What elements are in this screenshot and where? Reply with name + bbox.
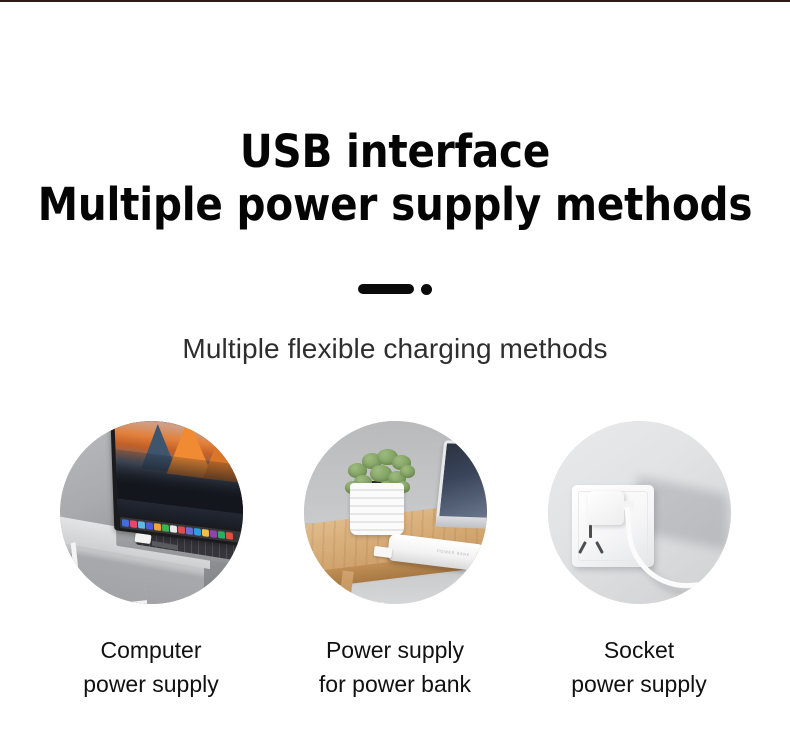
laptop-usb-charging-photo <box>60 421 243 604</box>
feature-caption-socket: Socket power supply <box>548 633 731 701</box>
promo-page: USB interface Multiple power supply meth… <box>0 0 790 753</box>
tablet-device <box>435 440 486 524</box>
feature-card-row: Computer power supply POWER BANK <box>0 421 790 701</box>
caption-line-1: Power supply <box>304 633 487 667</box>
dock-icon-10 <box>193 528 200 536</box>
power-bank-charging-photo: POWER BANK <box>304 421 487 604</box>
caption-line-2: for power bank <box>304 667 487 701</box>
caption-line-2: power supply <box>60 667 243 701</box>
dock-icon-4 <box>145 522 152 530</box>
wall-socket-charging-photo <box>548 421 731 604</box>
dock-icon-12 <box>209 530 216 538</box>
feature-caption-power-bank: Power supply for power bank <box>304 633 487 701</box>
socket-slot-vertical <box>589 525 592 538</box>
dock-icon-9 <box>185 527 192 535</box>
caption-line-2: power supply <box>548 667 731 701</box>
dock-icon-3 <box>137 521 144 529</box>
dock-icon-13 <box>217 531 224 539</box>
laptop-screen <box>109 421 242 548</box>
divider <box>0 281 790 297</box>
feature-card-power-bank: POWER BANK Power supply for power bank <box>304 421 487 701</box>
dock-icon-1 <box>121 519 128 527</box>
dock-icon-14 <box>225 532 232 540</box>
divider-dot-icon <box>421 284 432 295</box>
ribbed-plant-pot <box>350 483 404 535</box>
feature-card-computer: Computer power supply <box>60 421 243 701</box>
succulent-leaf-11 <box>400 465 415 478</box>
page-title-line-1: USB interface <box>0 126 790 178</box>
feature-card-socket: Socket power supply <box>548 421 731 701</box>
desktop-wallpaper <box>113 421 242 532</box>
dock-icon-11 <box>201 529 208 537</box>
page-title-line-2: Multiple power supply methods <box>0 178 790 231</box>
dock-icon-7 <box>169 525 176 533</box>
dock-icon-8 <box>177 526 184 534</box>
feature-caption-computer: Computer power supply <box>60 633 243 701</box>
caption-line-1: Computer <box>60 633 243 667</box>
page-subtitle: Multiple flexible charging methods <box>0 331 790 367</box>
dock-icon-2 <box>129 520 136 528</box>
usb-wall-charger <box>588 491 624 525</box>
dock-icon-5 <box>153 523 160 531</box>
divider-bar-icon <box>358 284 414 294</box>
page-title: USB interface Multiple power supply meth… <box>0 126 790 231</box>
top-edge-strip <box>0 0 790 2</box>
caption-line-1: Socket <box>548 633 731 667</box>
dock-icon-6 <box>161 524 168 532</box>
tablet-base <box>435 516 487 529</box>
power-bank-brand-label: POWER BANK <box>436 548 469 557</box>
